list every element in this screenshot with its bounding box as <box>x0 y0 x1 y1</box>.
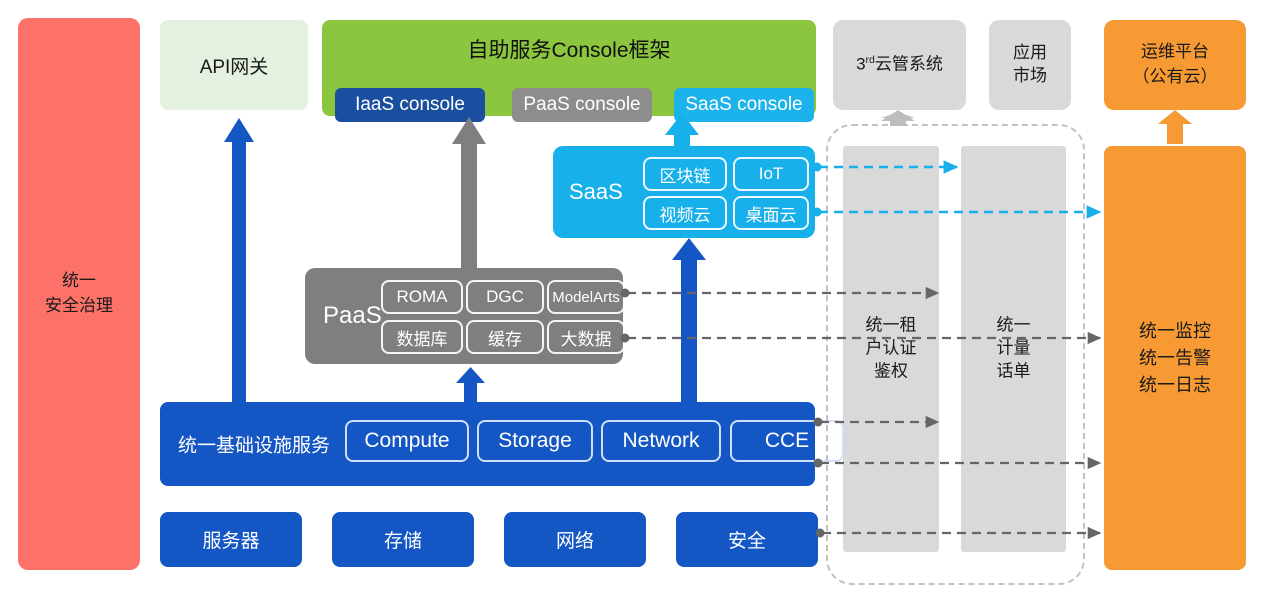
saas-item-iot[interactable]: IoT <box>733 157 809 191</box>
hardware-item-server[interactable]: 服务器 <box>160 512 302 567</box>
unified-tenant-auth-label: 统一租 户认证 鉴权 <box>843 315 939 384</box>
paas-console-chip[interactable]: PaaS console <box>512 88 652 122</box>
arrow-infra-to-api-gateway <box>224 118 254 402</box>
ops-platform-top-label: 运维平台 （公有云） <box>1133 40 1218 89</box>
paas-item-dgc[interactable]: DGC <box>466 280 544 314</box>
ops-platform-bar: 统一监控 统一告警 统一日志 <box>1104 146 1246 570</box>
saas-layer-box: SaaS 区块链 IoT 视频云 桌面云 <box>553 146 815 238</box>
architecture-diagram: 统一 安全治理 API网关 自助服务Console框架 IaaS console… <box>0 0 1265 605</box>
app-market-label: 应用 市场 <box>1013 42 1047 88</box>
infra-item-cce[interactable]: CCE <box>730 420 844 462</box>
paas-layer-box: PaaS ROMA DGC ModelArts 数据库 缓存 大数据 <box>305 268 623 364</box>
arrow-to-ops-platform <box>1158 110 1192 144</box>
paas-item-bigdata[interactable]: 大数据 <box>547 320 625 354</box>
paas-item-modelarts[interactable]: ModelArts <box>547 280 625 314</box>
arrow-paas-to-console <box>452 117 486 268</box>
api-gateway-label: API网关 <box>200 52 269 79</box>
third-party-prefix: 3 <box>856 55 865 74</box>
unified-metering-column: 统一 计量 话单 <box>961 146 1066 552</box>
infra-item-storage[interactable]: Storage <box>477 420 593 462</box>
arrow-infra-to-paas <box>456 367 485 403</box>
api-gateway-box: API网关 <box>160 20 308 110</box>
security-governance-panel: 统一 安全治理 <box>18 18 140 570</box>
third-party-cloud-mgmt-box: 3rd云管系统 <box>833 20 966 110</box>
third-party-superscript: rd <box>866 54 875 66</box>
security-governance-label: 统一 安全治理 <box>45 269 113 318</box>
third-party-cloud-mgmt-label: 3rd云管系统 <box>856 53 943 77</box>
third-party-suffix: 云管系统 <box>875 55 943 74</box>
paas-item-roma[interactable]: ROMA <box>381 280 463 314</box>
iaas-console-chip[interactable]: IaaS console <box>335 88 485 122</box>
ops-platform-top-box: 运维平台 （公有云） <box>1104 20 1246 110</box>
hardware-item-storage[interactable]: 存储 <box>332 512 474 567</box>
saas-console-chip[interactable]: SaaS console <box>674 88 814 122</box>
console-framework-title: 自助服务Console框架 <box>322 34 816 64</box>
console-framework-box: 自助服务Console框架 IaaS console PaaS console … <box>322 20 816 116</box>
unified-tenant-auth-column: 统一租 户认证 鉴权 <box>843 146 939 552</box>
hardware-item-security[interactable]: 安全 <box>676 512 818 567</box>
paas-item-cache[interactable]: 缓存 <box>466 320 544 354</box>
saas-item-blockchain[interactable]: 区块链 <box>643 157 727 191</box>
saas-item-desktop-cloud[interactable]: 桌面云 <box>733 196 809 230</box>
saas-layer-label: SaaS <box>569 179 623 205</box>
saas-item-video-cloud[interactable]: 视频云 <box>643 196 727 230</box>
hardware-item-network[interactable]: 网络 <box>504 512 646 567</box>
ops-platform-bar-label: 统一监控 统一告警 统一日志 <box>1139 318 1211 399</box>
infra-item-network[interactable]: Network <box>601 420 721 462</box>
paas-layer-label: PaaS <box>323 302 382 330</box>
unified-metering-label: 统一 计量 话单 <box>961 315 1066 384</box>
infrastructure-label: 统一基础设施服务 <box>178 431 330 458</box>
app-market-box: 应用 市场 <box>989 20 1071 110</box>
arrow-infra-to-saas <box>672 238 706 403</box>
infrastructure-bar: 统一基础设施服务 Compute Storage Network CCE <box>160 402 815 486</box>
paas-item-database[interactable]: 数据库 <box>381 320 463 354</box>
infra-item-compute[interactable]: Compute <box>345 420 469 462</box>
